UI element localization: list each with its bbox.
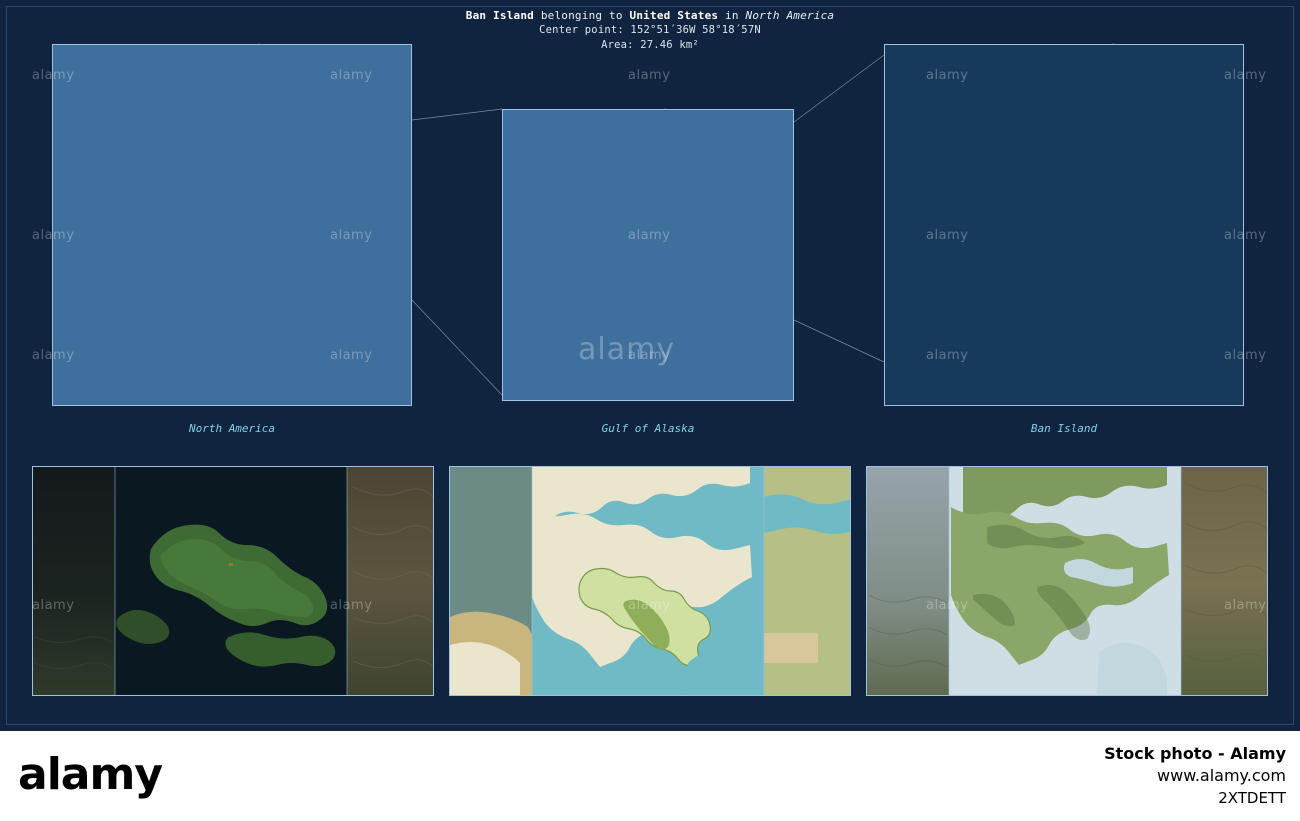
caption-ban-island: Ban Island (884, 422, 1244, 435)
political-image (450, 467, 851, 696)
map-gulf-of-alaska[interactable] (502, 109, 794, 401)
map-figure: Ban Island belonging to United States in… (0, 0, 1300, 731)
footer-stock-photo-text: Stock photo - Alamy (1104, 743, 1286, 765)
ocean-fill (503, 110, 793, 400)
ocean-fill (885, 45, 1243, 405)
panel-ban-island: <- 11.4 km -> Ban Island (884, 30, 1244, 442)
header-title: Ban Island belonging to United States in… (0, 8, 1300, 23)
thumbnail-political-map[interactable] (449, 466, 851, 696)
header-island-name: Ban Island (466, 9, 534, 22)
header-continent: North America (746, 9, 835, 22)
alamy-footer-bar: alamy Stock photo - Alamy www.alamy.com … (0, 731, 1300, 821)
thumbnail-satellite-imagery[interactable] (32, 466, 434, 696)
panel-gulf-of-alaska: <- 2000 km -> (502, 95, 794, 443)
panel-north-america: <- 14000 km -> (52, 30, 412, 442)
header-belonging-text: belonging to (534, 9, 630, 22)
header-country: United States (630, 9, 719, 22)
watermark-tile: alamy (628, 68, 670, 83)
header-in-text: in (718, 9, 745, 22)
thumbnail-relief-map[interactable] (866, 466, 1268, 696)
satellite-image (33, 467, 434, 696)
caption-north-america: North America (52, 422, 412, 435)
footer-info: Stock photo - Alamy www.alamy.com 2XTDET… (1104, 743, 1286, 809)
alamy-logo: alamy (18, 749, 162, 800)
relief-image (867, 467, 1268, 696)
map-north-america[interactable] (52, 44, 412, 406)
caption-gulf-of-alaska: Gulf of Alaska (502, 422, 794, 435)
footer-website: www.alamy.com (1104, 765, 1286, 787)
footer-image-id: 2XTDETT (1104, 787, 1286, 809)
map-ban-island[interactable] (884, 44, 1244, 406)
ocean-fill (53, 45, 411, 405)
